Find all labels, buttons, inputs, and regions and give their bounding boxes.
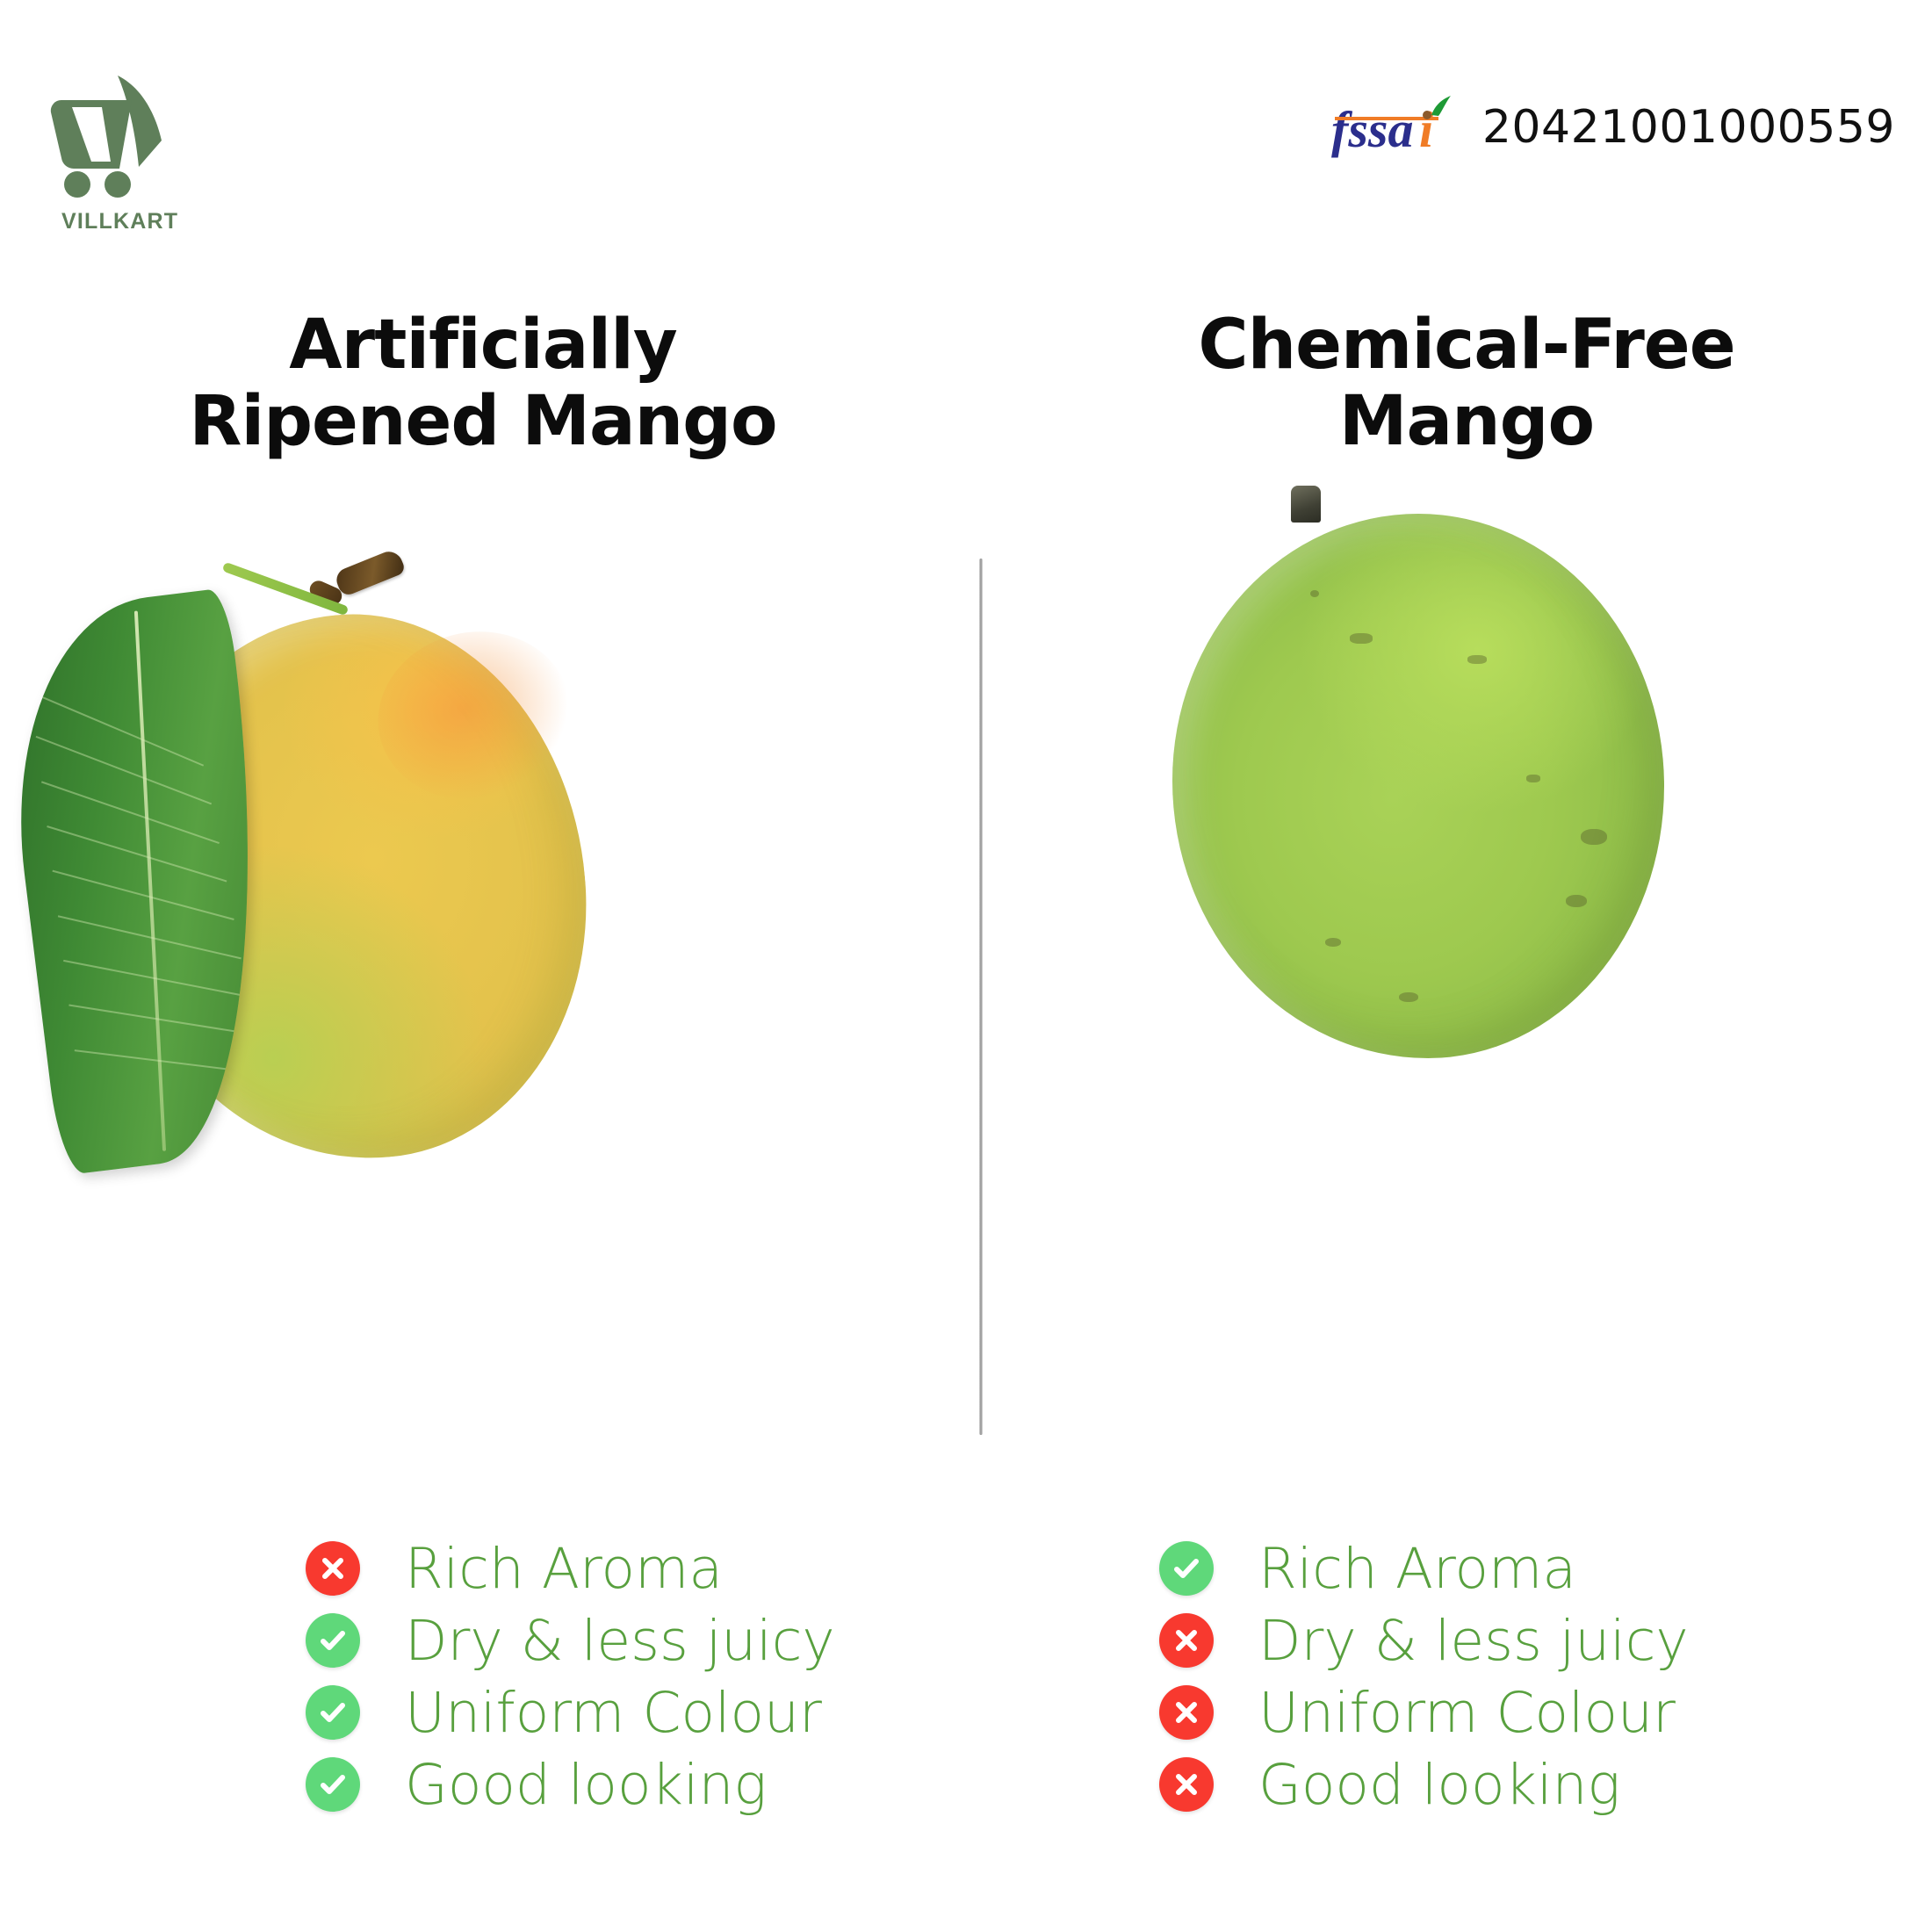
column-divider [979,559,983,1435]
list-item-label: Uniform Colour [405,1685,822,1741]
right-column-title: Chemical-FreeMango [1159,307,1774,461]
cross-circle-icon [1159,1613,1214,1668]
mango-blemish [1526,775,1540,782]
shopping-cart-check-icon [37,68,213,209]
leaf-vein [69,1005,256,1036]
artificially-ripened-mango-image [0,461,966,1304]
leaf-vein [53,870,235,920]
poster-canvas: VILLKART fssa i 20421001000559 Artificia… [0,0,1932,1932]
mango-blemish [1399,992,1418,1002]
mango-blemish [1325,938,1341,947]
column-chemical-free: Chemical-FreeMango [984,307,1932,1304]
green-mango-stem [1291,486,1321,523]
leaf-vein [47,825,227,883]
list-item[interactable]: Rich Aroma [1159,1532,1689,1604]
mango-blemish [1350,633,1373,644]
fssai-license-number: 20421001000559 [1482,101,1895,154]
left-title-line-2: Ripened Mango [189,382,776,461]
check-circle-icon [306,1757,360,1812]
right-title-line-2: Mango [1339,382,1594,461]
list-item-label: Rich Aroma [405,1541,723,1597]
cross-circle-icon [306,1541,360,1596]
green-mango-body [1172,514,1664,1058]
list-item-label: Rich Aroma [1258,1541,1576,1597]
check-circle-icon [1159,1541,1214,1596]
mango-blemish [1467,655,1487,664]
list-item[interactable]: Uniform Colour [306,1676,835,1748]
list-item-label: Uniform Colour [1258,1685,1676,1741]
mango-blemish [1310,590,1319,597]
right-title-line-1: Chemical-Free [1198,306,1734,385]
list-item[interactable]: Good looking [306,1748,835,1820]
check-circle-icon [306,1613,360,1668]
list-item-label: Dry & less juicy [405,1613,835,1669]
list-item[interactable]: Dry & less juicy [1159,1604,1689,1676]
column-artificially-ripened: ArtificiallyRipened Mango [0,307,966,1304]
check-circle-icon [306,1685,360,1740]
left-title-line-1: Artificially [289,306,676,385]
list-item-label: Dry & less juicy [1258,1613,1689,1669]
list-item[interactable]: Rich Aroma [306,1532,835,1604]
right-feature-list: Rich Aroma Dry & less juicy Uniform Colo… [1159,1532,1689,1820]
left-column-title: ArtificiallyRipened Mango [167,307,799,461]
list-item-label: Good looking [405,1757,767,1813]
yellow-mango-stem [333,547,407,597]
mango-blemish [1566,895,1587,907]
chemical-free-mango-image [984,461,1932,1304]
svg-text:fssa: fssa [1331,101,1413,158]
svg-text:i: i [1419,101,1433,158]
leaf-vein [30,691,204,767]
mango-blemish [1581,829,1607,845]
list-item-label: Good looking [1258,1757,1620,1813]
cross-circle-icon [1159,1757,1214,1812]
fssai-certification: fssa i 20421001000559 [1328,92,1895,162]
list-item[interactable]: Uniform Colour [1159,1676,1689,1748]
list-item[interactable]: Dry & less juicy [306,1604,835,1676]
leaf-vein [36,736,213,805]
left-feature-list: Rich Aroma Dry & less juicy Uniform Colo… [306,1532,835,1820]
leaf-midrib [134,610,166,1151]
cross-circle-icon [1159,1685,1214,1740]
villkart-logo[interactable]: VILLKART [37,68,213,235]
list-item[interactable]: Good looking [1159,1748,1689,1820]
fssai-logo-icon: fssa i [1328,92,1460,162]
brand-name: VILLKART [61,209,178,234]
